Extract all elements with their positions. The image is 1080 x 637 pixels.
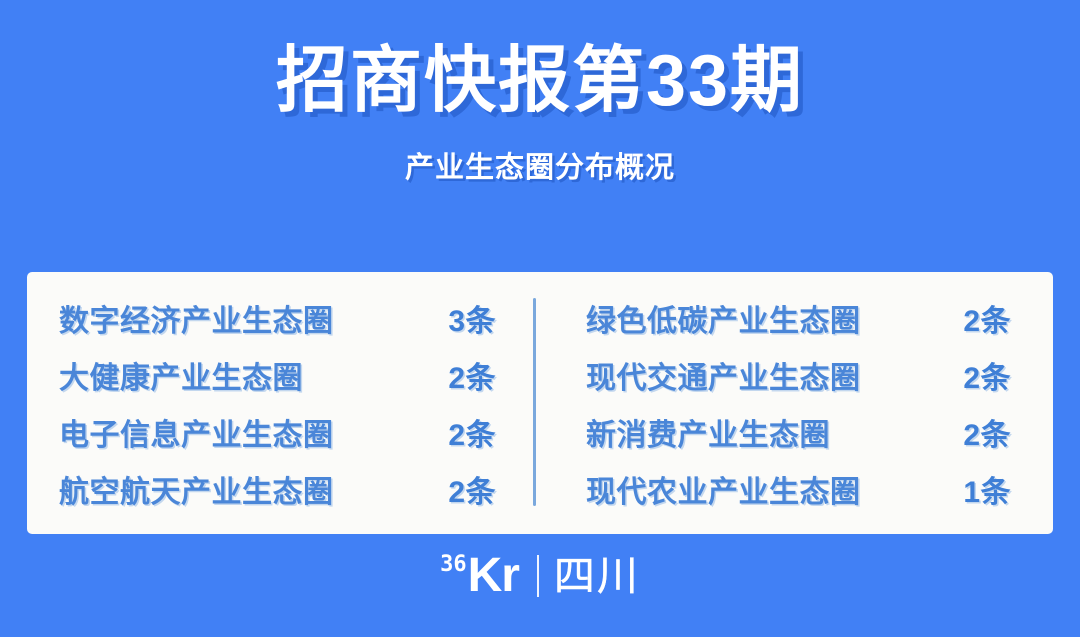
page-subtitle: 产业生态圈分布概况	[0, 144, 1080, 186]
ecosystem-name: 电子信息产业生态圈	[59, 410, 334, 454]
ecosystem-count: 2条	[963, 410, 1011, 454]
title-area: 招商快报第33期 产业生态圈分布概况	[0, 44, 1080, 186]
page-title: 招商快报第33期	[0, 44, 1080, 120]
logo-region-text: 四川	[554, 556, 640, 597]
ecosystem-count: 2条	[448, 467, 496, 511]
list-item: 电子信息产业生态圈 2条	[59, 410, 496, 454]
ecosystem-name: 数字经济产业生态圈	[59, 296, 334, 340]
list-item: 航空航天产业生态圈 2条	[59, 467, 496, 511]
list-item: 现代交通产业生态圈 2条	[586, 353, 1011, 397]
list-item: 绿色低碳产业生态圈 2条	[586, 296, 1011, 340]
ecosystem-name: 现代交通产业生态圈	[586, 353, 861, 397]
column-divider	[533, 298, 536, 506]
poster-canvas: 招商快报第33期 产业生态圈分布概况 数字经济产业生态圈 3条 大健康产业生态圈…	[0, 0, 1080, 637]
ecosystem-count: 2条	[963, 296, 1011, 340]
list-item: 数字经济产业生态圈 3条	[59, 296, 496, 340]
ecosystem-name: 大健康产业生态圈	[59, 353, 303, 397]
ecosystem-count: 2条	[448, 353, 496, 397]
list-item: 大健康产业生态圈 2条	[59, 353, 496, 397]
ecosystem-name: 航空航天产业生态圈	[59, 467, 334, 511]
ecosystem-card-inner: 数字经济产业生态圈 3条 大健康产业生态圈 2条 电子信息产业生态圈 2条 航空…	[27, 272, 1053, 534]
logo-kr-text: Kr	[468, 552, 519, 600]
ecosystem-name: 新消费产业生态圈	[586, 410, 830, 454]
ecosystem-list-right: 绿色低碳产业生态圈 2条 现代交通产业生态圈 2条 新消费产业生态圈 2条 现代…	[540, 296, 1053, 511]
footer-logo: 36 Kr 四川	[0, 552, 1080, 600]
ecosystem-count: 2条	[963, 353, 1011, 397]
list-item: 新消费产业生态圈 2条	[586, 410, 1011, 454]
ecosystem-list-left: 数字经济产业生态圈 3条 大健康产业生态圈 2条 电子信息产业生态圈 2条 航空…	[27, 296, 540, 511]
logo-36-text: 36	[440, 554, 467, 576]
list-item: 现代农业产业生态圈 1条	[586, 467, 1011, 511]
logo-separator-icon	[537, 555, 539, 597]
ecosystem-count: 3条	[448, 296, 496, 340]
ecosystem-count: 1条	[963, 467, 1011, 511]
ecosystem-name: 现代农业产业生态圈	[586, 467, 861, 511]
ecosystem-name: 绿色低碳产业生态圈	[586, 296, 861, 340]
ecosystem-count: 2条	[448, 410, 496, 454]
ecosystem-card: 数字经济产业生态圈 3条 大健康产业生态圈 2条 电子信息产业生态圈 2条 航空…	[27, 272, 1053, 534]
